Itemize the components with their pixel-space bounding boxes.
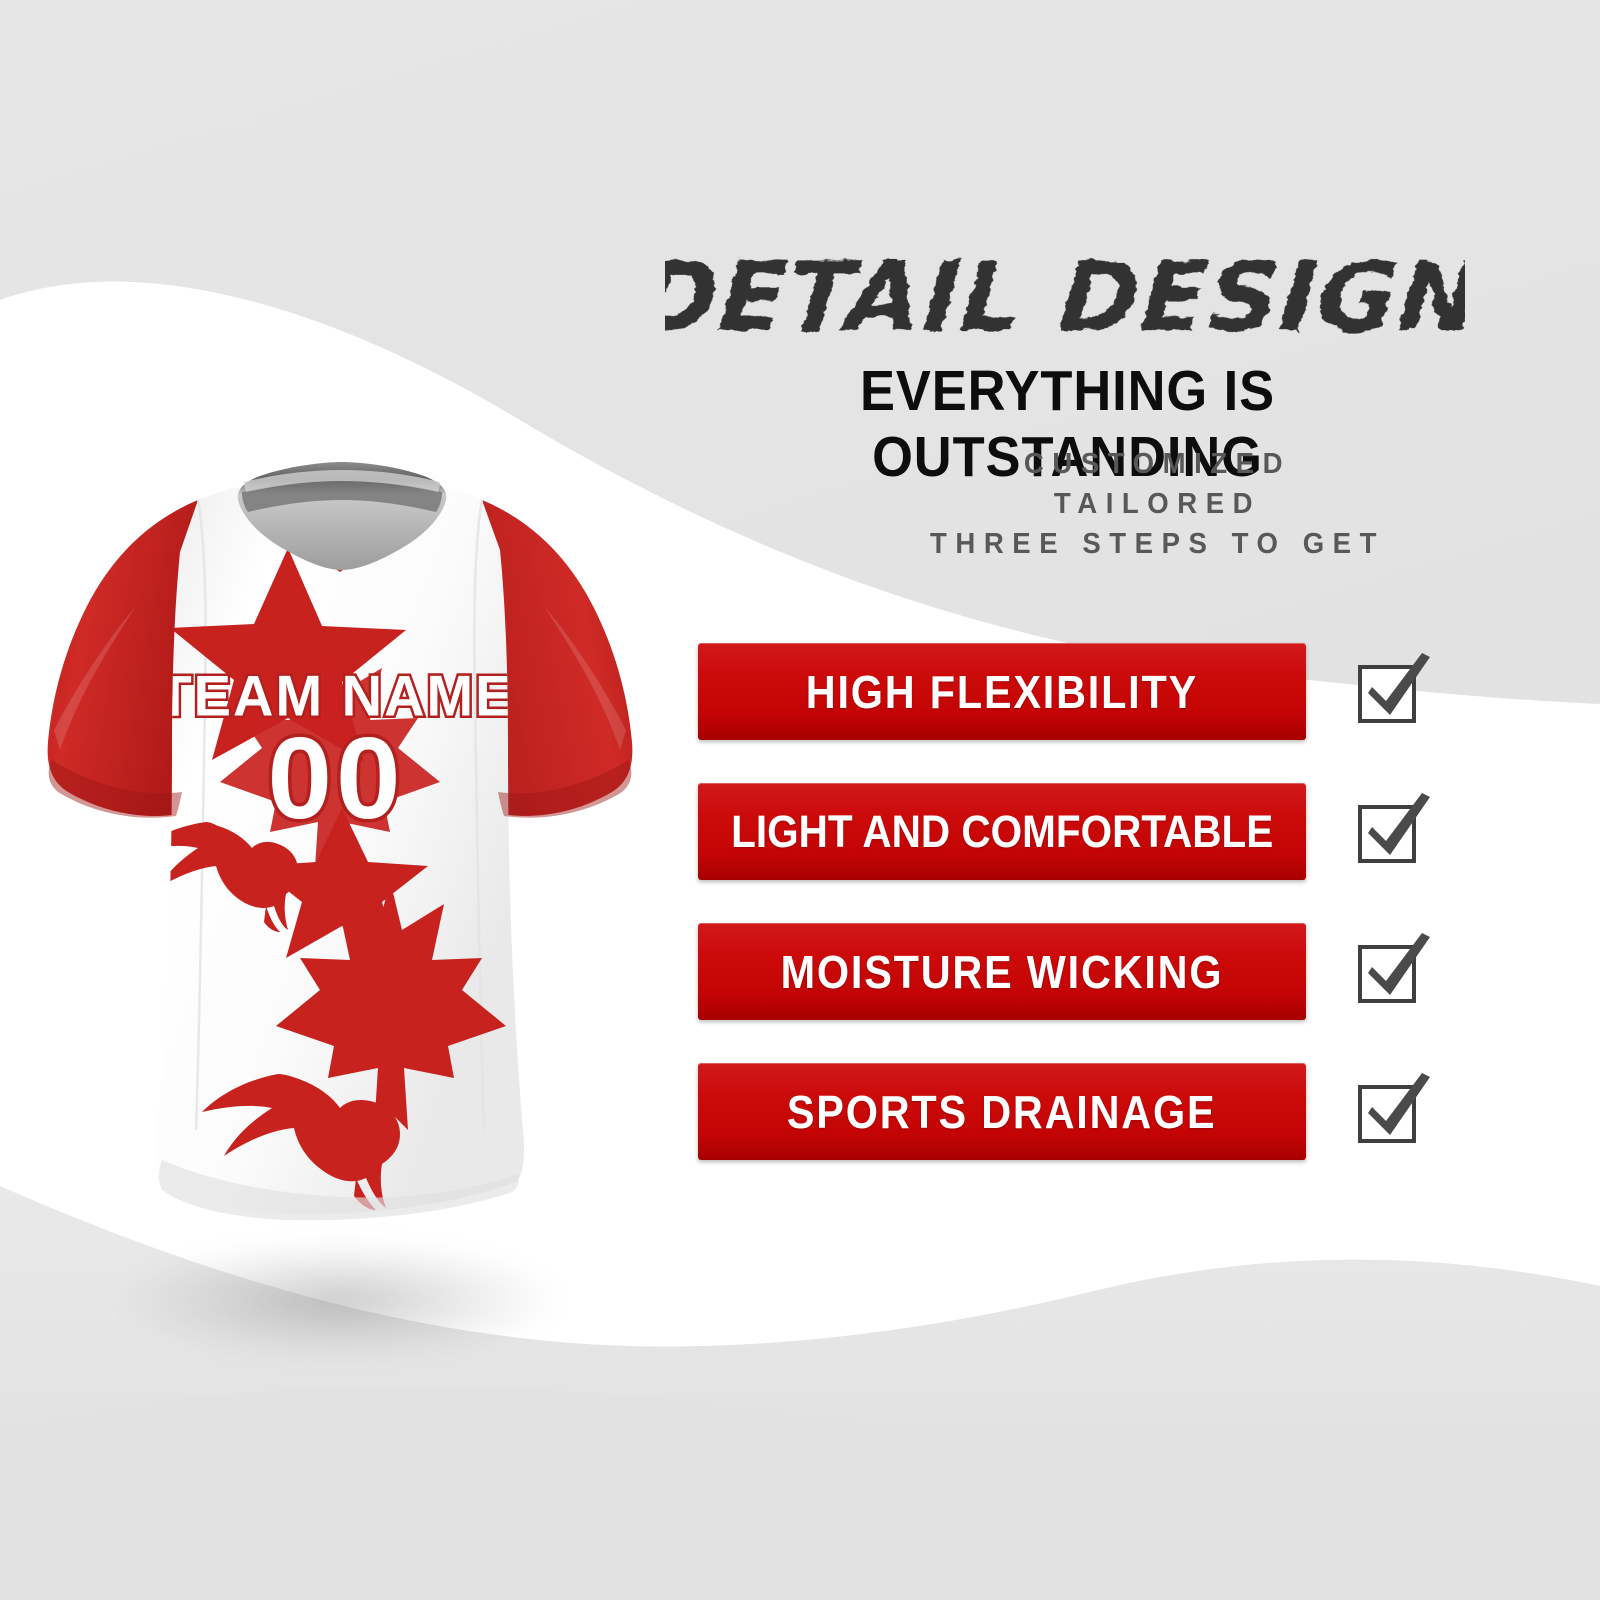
- feature-bar-light-and-comfortable[interactable]: LIGHT AND COMFORTABLE: [698, 783, 1306, 880]
- promo-graphic-canvas: TEAM NAME 00: [0, 0, 1600, 1600]
- tagline-group: CUSTOMIZED TAILORED THREE STEPS TO GET: [820, 444, 1495, 564]
- headline-block: DETAIL DESIGN: [640, 238, 1490, 358]
- product-image-jersey: TEAM NAME 00: [30, 430, 650, 1270]
- feature-label: HIGH FLEXIBILITY: [806, 665, 1198, 719]
- feature-item: MOISTURE WICKING: [698, 923, 1518, 1020]
- page-title-text: DETAIL DESIGN: [665, 241, 1465, 353]
- checkbox-checked-icon[interactable]: [1346, 1069, 1430, 1153]
- feature-label: LIGHT AND COMFORTABLE: [731, 806, 1273, 858]
- feature-list: HIGH FLEXIBILITY LIGHT AND COMFORTABLE: [698, 643, 1518, 1203]
- checkbox-checked-icon[interactable]: [1346, 929, 1430, 1013]
- feature-item: SPORTS DRAINAGE: [698, 1063, 1518, 1160]
- tagline-line-3: THREE STEPS TO GET: [837, 524, 1478, 564]
- checkbox-checked-icon[interactable]: [1346, 789, 1430, 873]
- tagline-line-2: TAILORED: [837, 484, 1478, 524]
- feature-label: MOISTURE WICKING: [781, 945, 1224, 999]
- feature-item: HIGH FLEXIBILITY: [698, 643, 1518, 740]
- content-column: DETAIL DESIGN EVERYTHING IS OUTSTANDING …: [640, 0, 1600, 1600]
- feature-label: SPORTS DRAINAGE: [787, 1085, 1217, 1139]
- checkbox-checked-icon[interactable]: [1346, 649, 1430, 733]
- feature-bar-sports-drainage[interactable]: SPORTS DRAINAGE: [698, 1063, 1306, 1160]
- feature-item: LIGHT AND COMFORTABLE: [698, 783, 1518, 880]
- feature-bar-high-flexibility[interactable]: HIGH FLEXIBILITY: [698, 643, 1306, 740]
- feature-bar-moisture-wicking[interactable]: MOISTURE WICKING: [698, 923, 1306, 1020]
- page-title-headline-svg: DETAIL DESIGN: [665, 238, 1465, 358]
- tagline-line-1: CUSTOMIZED: [837, 444, 1478, 484]
